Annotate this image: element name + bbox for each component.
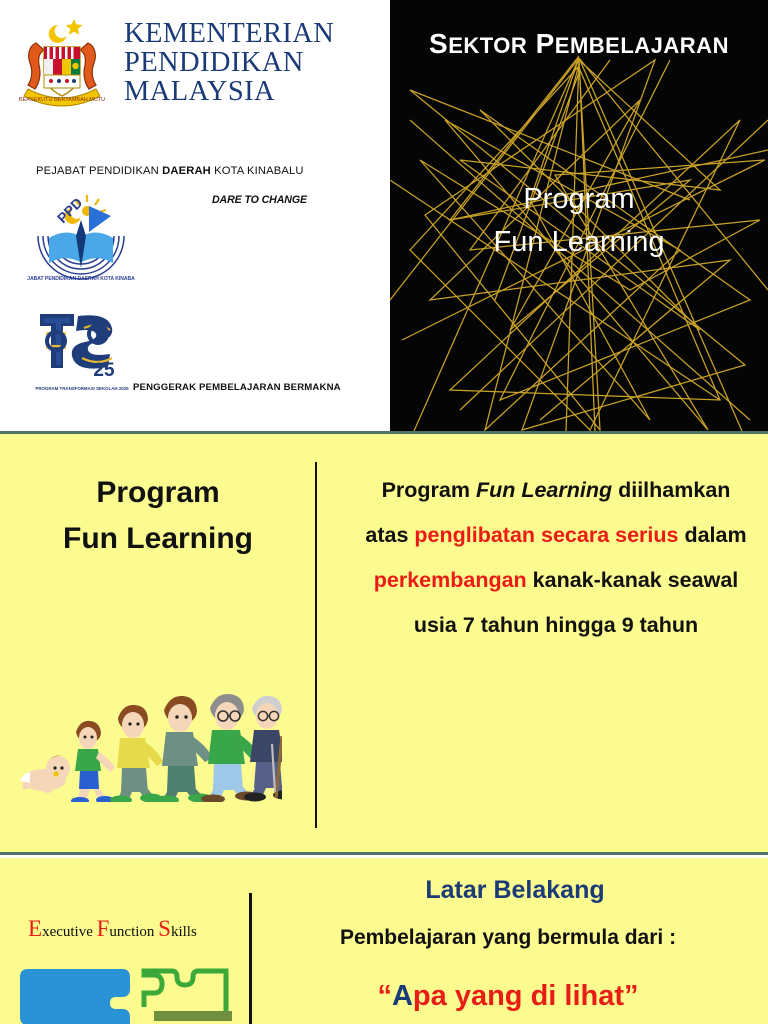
latar-belakang-subheading: Pembelajaran yang bermula dari :: [266, 926, 750, 950]
sector-heading-c4: EMBELAJARAN: [555, 33, 729, 58]
slide-separator-bottom: [0, 852, 768, 855]
program-title-line-2: Fun Learning: [390, 221, 768, 264]
intro-body-text: Program Fun Learning diilhamkan atas pen…: [360, 468, 752, 649]
program-title-line-1: Program: [390, 178, 768, 221]
quote-rest: pa yang di lihat: [413, 980, 624, 1012]
human-life-stages-walking-icon: [14, 632, 282, 802]
intro-left-title-line-2: Fun Learning: [0, 516, 316, 562]
jata-negara-crest-icon: BERSEKUTU BERTAMBAH MUTU: [14, 13, 110, 113]
ministry-line-2: PENDIDIKAN: [124, 48, 334, 77]
intro-left-title: Program Fun Learning: [0, 470, 316, 561]
sector-heading-c1: S: [429, 28, 448, 59]
executive-function-skills-title: Executive Function Skills: [28, 916, 197, 942]
efs-rest-function: unction: [109, 924, 154, 940]
district-office-tagline: DARE TO CHANGE: [212, 194, 307, 206]
title-right-black-panel: SEKTOR PEMBELAJARAN Program Fun Learning: [390, 0, 768, 431]
title-left-white-panel: BERSEKUTU BERTAMBAH MUTU KEMENTERIAN PEN…: [0, 0, 390, 431]
efs-rest-executive: xecutive: [42, 924, 93, 940]
district-office-heading: PEJABAT PENDIDIKAN DAERAH KOTA KINABALU: [36, 165, 304, 177]
latar-belakang-quote: “Apa yang di lihat”: [266, 980, 750, 1013]
sector-heading-c3: P: [527, 28, 554, 59]
ts25-logo-icon: 25 PROGRAM TRANSFORMASI SEKOLAH 2025: [32, 308, 132, 394]
efs-cap-f: F: [97, 916, 110, 941]
ministry-line-3: MALAYSIA: [124, 77, 334, 106]
efs-rest-skills: kills: [171, 924, 197, 940]
ts25-caption: PENGGERAK PEMBELAJARAN BERMAKNA: [133, 382, 341, 393]
program-title: Program Fun Learning: [390, 178, 768, 264]
svg-text:PROGRAM TRANSFORMASI SEKOLAH 2: PROGRAM TRANSFORMASI SEKOLAH 2025: [35, 386, 129, 391]
intro-body-t4-highlight: penglibatan secara serius: [414, 523, 678, 547]
slide-program-intro: Program Fun Learning: [0, 434, 768, 852]
svg-text:BERSEKUTU BERTAMBAH MUTU: BERSEKUTU BERTAMBAH MUTU: [19, 97, 105, 103]
sector-heading: SEKTOR PEMBELAJARAN: [390, 28, 768, 60]
blue-puzzle-piece-icon: [20, 969, 130, 1024]
intro-vertical-divider: [315, 462, 317, 828]
efs-cap-s: S: [158, 916, 171, 941]
district-heading-prefix: PEJABAT PENDIDIKAN: [36, 165, 162, 177]
svg-text:25: 25: [93, 360, 115, 381]
slide-latar-belakang: Executive Function Skills Latar Belakang…: [0, 858, 768, 1024]
quote-cap-a: A: [392, 980, 413, 1012]
svg-text:PEJABAT PENDIDIKAN DAERAH KOTA: PEJABAT PENDIDIKAN DAERAH KOTA KINABALU: [27, 276, 135, 282]
latar-belakang-heading: Latar Belakang: [280, 876, 750, 905]
slide-title-header: BERSEKUTU BERTAMBAH MUTU KEMENTERIAN PEN…: [0, 0, 768, 431]
district-heading-suffix: KOTA KINABALU: [211, 165, 304, 177]
latar-vertical-divider: [249, 893, 252, 1024]
quote-close-mark: ”: [624, 980, 639, 1012]
intro-left-title-line-1: Program: [0, 470, 316, 516]
efs-puzzle-graphic: [12, 963, 252, 1024]
ministry-line-1: KEMENTERIAN: [124, 19, 334, 48]
efs-cap-e: E: [28, 916, 42, 941]
quote-open-mark: “: [377, 980, 392, 1012]
green-puzzle-piece-icon: [144, 971, 226, 1015]
ministry-wordmark: KEMENTERIAN PENDIDIKAN MALAYSIA: [124, 19, 334, 106]
intro-body-t1: Program: [382, 478, 476, 502]
district-heading-bold: DAERAH: [162, 165, 211, 177]
intro-body-t2-italic: Fun Learning: [476, 478, 612, 502]
intro-body-t5: dalam: [678, 523, 746, 547]
ministry-lockup: BERSEKUTU BERTAMBAH MUTU KEMENTERIAN PEN…: [14, 10, 374, 115]
intro-body-t6-highlight: perkembangan: [374, 568, 527, 592]
ppd-kota-kinabalu-logo-icon: PPD PEJABAT PENDIDIKAN DAERAH KOTA KINAB…: [27, 186, 135, 284]
sector-heading-c2: EKTOR: [448, 33, 527, 58]
